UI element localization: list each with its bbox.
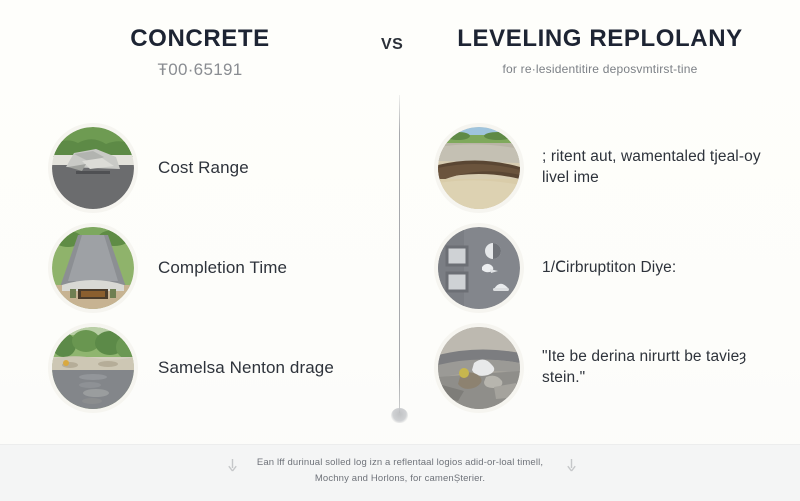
gray-panel-thumbnail <box>438 227 520 309</box>
list-item-label: Samelsa Nenton drage <box>158 357 334 380</box>
left-column: Cost Range <box>52 118 382 418</box>
list-item[interactable]: "Ite be derina nirurtt be tavieȝ stein." <box>438 318 788 418</box>
curved-path-thumbnail <box>438 127 520 209</box>
header: CONCRETE Ŧ00·65191 VS LEVELING REPLOLANY… <box>0 0 800 100</box>
left-title: CONCRETE <box>40 26 360 52</box>
footer-text: Ean lff durinual solled log izn a reflen… <box>0 455 800 487</box>
footer: Ean lff durinual solled log izn a reflen… <box>0 444 800 501</box>
divider-cap-icon <box>391 408 408 423</box>
list-item-label: Completion Time <box>158 257 287 280</box>
debris-thumbnail <box>438 327 520 409</box>
list-item[interactable]: Samelsa Nenton drage <box>52 318 382 418</box>
left-subtitle: Ŧ00·65191 <box>40 60 360 80</box>
header-right-column: LEVELING REPLOLANY for re·lesidentitire … <box>420 26 780 76</box>
vertical-divider <box>399 95 400 413</box>
list-item-label: Cost Range <box>158 157 249 180</box>
driveway-thumbnail <box>52 227 134 309</box>
right-column: ; ritent aut, wamentaled tjeal-oy livel … <box>438 118 788 418</box>
list-item[interactable]: Cost Range <box>52 118 382 218</box>
list-item[interactable]: Completion Time <box>52 218 382 318</box>
header-left-column: CONCRETE Ŧ00·65191 <box>40 26 360 80</box>
vs-label: VS <box>381 36 403 54</box>
list-item-label: ; ritent aut, wamentaled tjeal-oy livel … <box>542 147 788 189</box>
list-item[interactable]: ; ritent aut, wamentaled tjeal-oy livel … <box>438 118 788 218</box>
footer-line-2: Mochny and Horlons, for camenȘterier. <box>0 471 800 487</box>
footer-line-1: Ean lff durinual solled log izn a reflen… <box>0 455 800 471</box>
pond-shore-thumbnail <box>52 327 134 409</box>
list-item[interactable]: 1/Ⅽirbruptiton Diye: <box>438 218 788 318</box>
comparison-infographic: CONCRETE Ŧ00·65191 VS LEVELING REPLOLANY… <box>0 0 800 500</box>
list-item-label: "Ite be derina nirurtt be tavieȝ stein." <box>542 347 788 389</box>
concrete-rubble-thumbnail <box>52 127 134 209</box>
list-item-label: 1/Ⅽirbruptiton Diye: <box>542 258 676 279</box>
right-subtitle: for re·lesidentitire deposvmtirst-tine <box>420 62 780 76</box>
right-title: LEVELING REPLOLANY <box>420 26 780 52</box>
